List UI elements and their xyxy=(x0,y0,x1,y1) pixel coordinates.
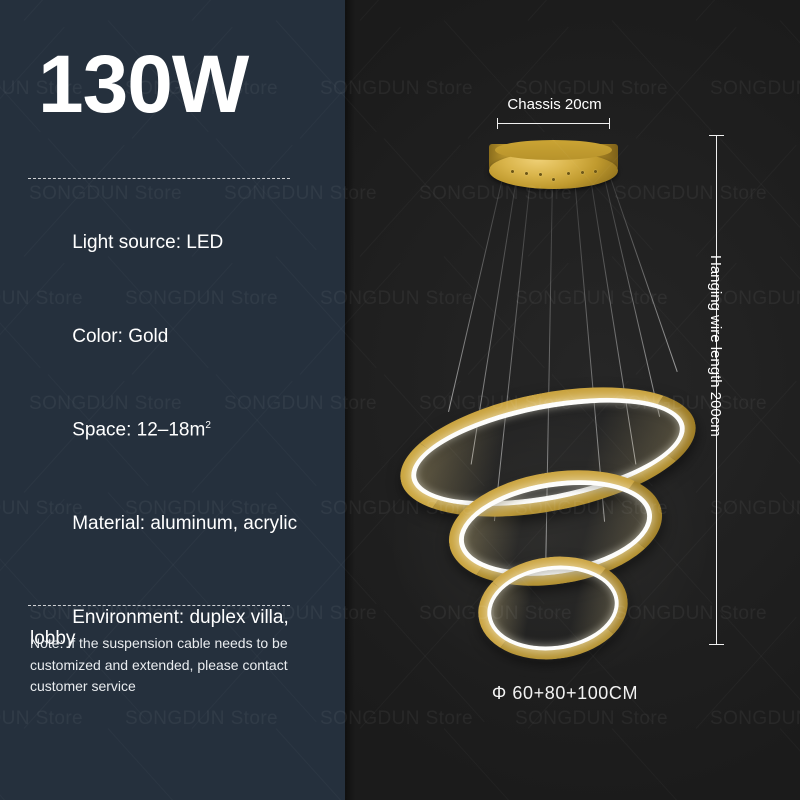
ceiling-chassis xyxy=(489,140,618,190)
chassis-screw xyxy=(552,178,555,181)
spec-item-label: Space: 12–18m xyxy=(72,420,205,441)
specification-panel: 130W Light source: LED Color: Gold Space… xyxy=(0,0,345,800)
chassis-screw xyxy=(581,171,584,174)
spec-item-light-source: Light source: LED xyxy=(30,212,330,275)
customization-note: Note: If the suspension cable needs to b… xyxy=(30,633,308,698)
spec-item-color: Color: Gold xyxy=(30,306,330,369)
chassis-dimension-label: Chassis 20cm xyxy=(497,96,612,113)
chassis-screw xyxy=(525,172,528,175)
chassis-screw xyxy=(594,170,597,173)
divider-bottom xyxy=(28,605,290,606)
divider-top xyxy=(28,178,290,179)
wattage-heading: 130W xyxy=(38,44,248,126)
spec-item-space: Space: 12–18m2 xyxy=(30,399,330,462)
specification-list: Light source: LED Color: Gold Space: 12–… xyxy=(30,212,330,702)
spec-item-material: Material: aluminum, acrylic xyxy=(30,493,330,556)
product-spec-image: Chassis 20cm Hanging wire length 200cm Φ… xyxy=(0,0,800,800)
chassis-dimension-line xyxy=(497,123,610,124)
diameter-caption: Φ 60+80+100CM xyxy=(400,683,730,704)
spec-item-label: Light source: LED xyxy=(72,232,223,253)
chassis-screw xyxy=(539,173,542,176)
panel-edge-shadow xyxy=(345,0,355,800)
chassis-screw xyxy=(511,170,514,173)
spec-item-label: Color: Gold xyxy=(72,326,168,347)
spec-item-superscript: 2 xyxy=(205,420,211,431)
spec-item-label: Material: aluminum, acrylic xyxy=(72,513,297,534)
chassis-screw xyxy=(567,172,570,175)
hanging-wire-dimension-label: Hanging wire length 200cm xyxy=(707,255,724,437)
chassis-top-face xyxy=(495,140,612,160)
